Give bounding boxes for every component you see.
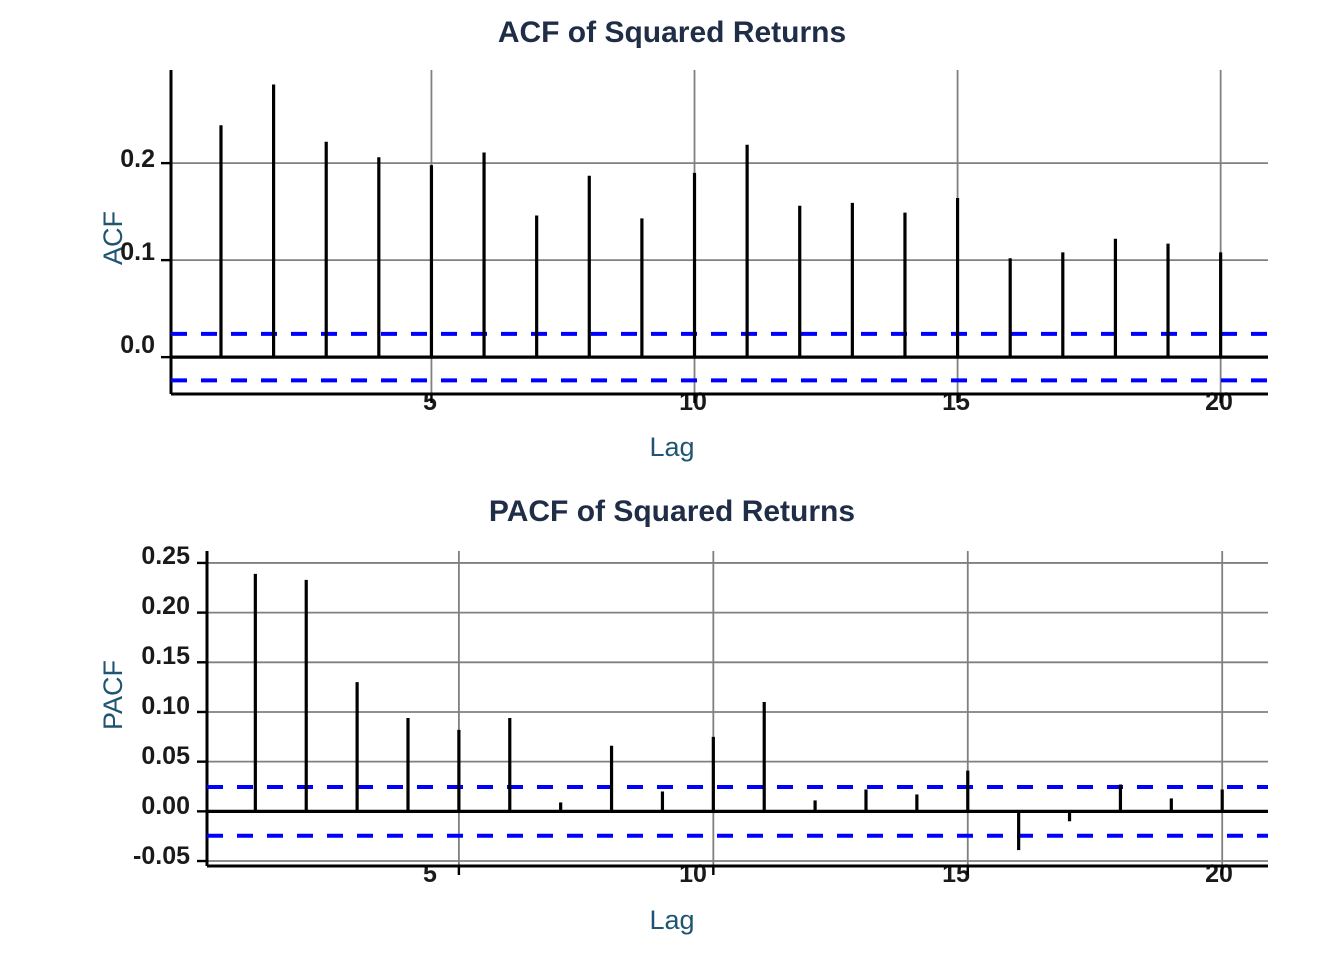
pacf-panel: PACF of Squared Returns PACF 0.25 0.20 0… bbox=[0, 480, 1344, 960]
acf-svg-content bbox=[161, 70, 1268, 403]
acf-plot-area bbox=[0, 0, 1344, 480]
figure-canvas: ACF of Squared Returns ACF 0.2 0.1 0.0 5… bbox=[0, 0, 1344, 960]
pacf-plot-area bbox=[0, 480, 1344, 960]
acf-panel: ACF of Squared Returns ACF 0.2 0.1 0.0 5… bbox=[0, 0, 1344, 480]
pacf-svg-content bbox=[197, 551, 1268, 875]
